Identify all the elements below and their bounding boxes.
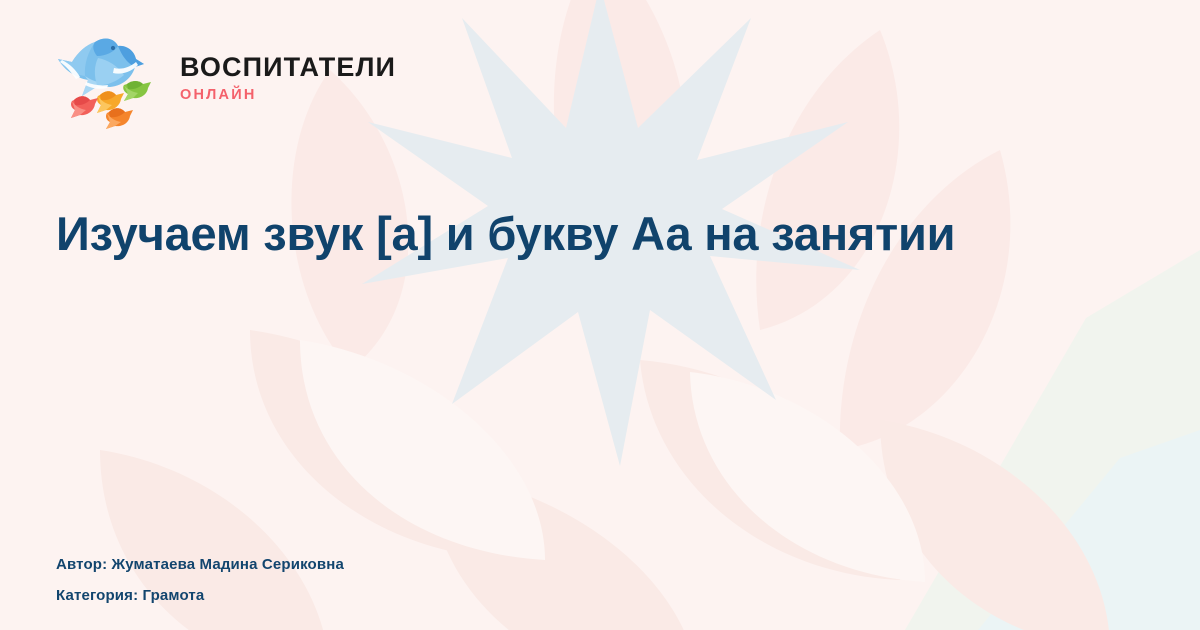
bird-small-orange xyxy=(106,108,133,129)
bird-small-green xyxy=(123,81,151,101)
page-title: Изучаем звук [а] и букву Аа на занятии xyxy=(56,202,986,265)
category-line: Категория: Грамота xyxy=(56,580,344,611)
corner-wedge-blue xyxy=(978,430,1200,630)
share-card: ВОСПИТАТЕЛИ ОНЛАЙН Изучаем звук [а] и бу… xyxy=(0,0,1200,630)
corner-wedge-green xyxy=(905,250,1200,630)
author-line: Автор: Жуматаева Мадина Сериковна xyxy=(56,549,344,580)
brand-tagline: ОНЛАЙН xyxy=(180,88,396,103)
site-logo[interactable]: ВОСПИТАТЕЛИ ОНЛАЙН xyxy=(52,34,396,130)
bird-small-red xyxy=(71,96,98,118)
flying-birds-icon xyxy=(52,34,164,130)
article-meta: Автор: Жуматаева Мадина Сериковна Катего… xyxy=(56,549,344,611)
petal-highlight xyxy=(300,340,925,582)
brand-wordmark: ВОСПИТАТЕЛИ ОНЛАЙН xyxy=(180,54,396,111)
brand-name: ВОСПИТАТЕЛИ xyxy=(180,54,396,81)
